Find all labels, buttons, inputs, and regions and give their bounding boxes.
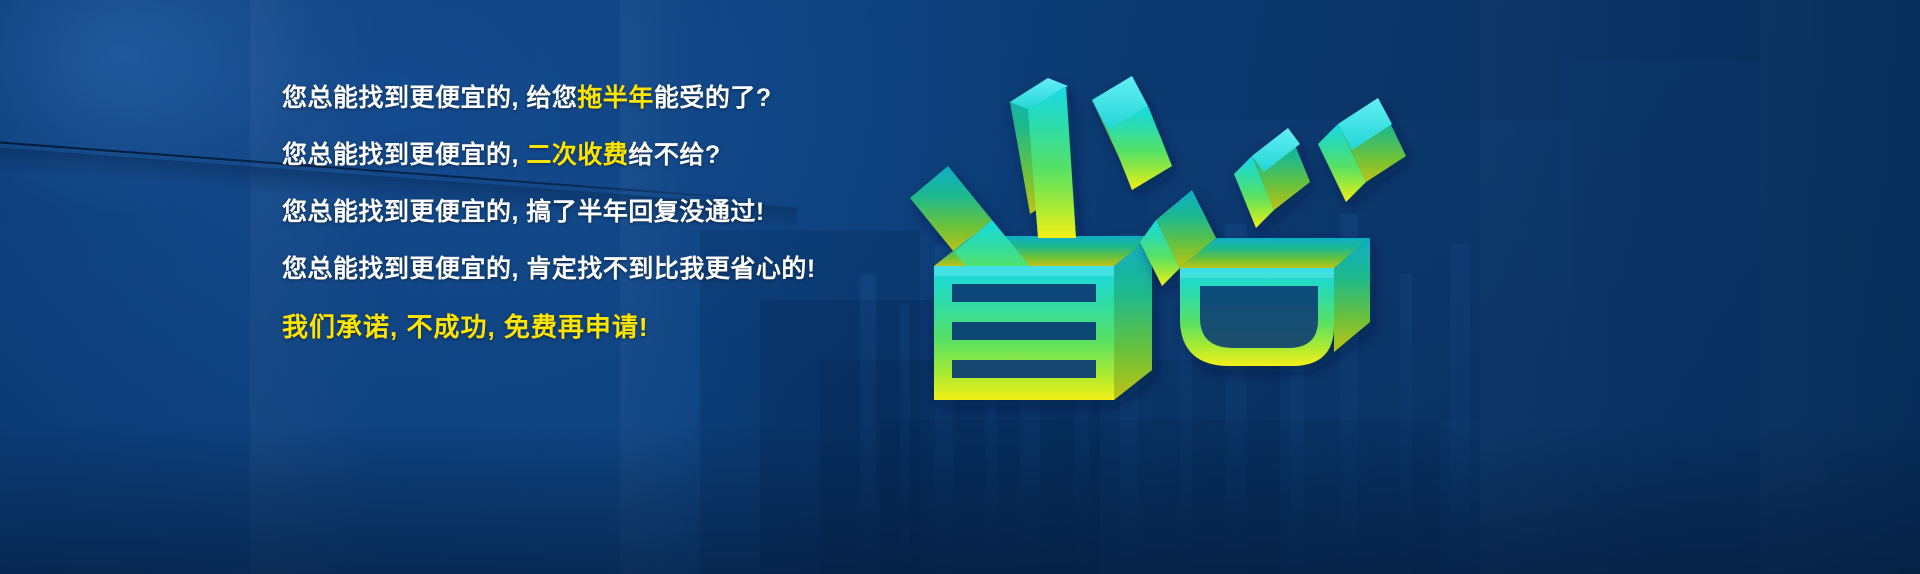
copy-segment: 给不给? (628, 141, 720, 169)
promo-banner: 您总能找到更便宜的, 给您拖半年能受的了? 您总能找到更便宜的, 二次收费给不给… (0, 0, 1920, 574)
copy-segment-highlight: 我们承诺, 不成功, 免费再申请! (282, 312, 649, 342)
copy-segment-highlight: 二次收费 (526, 141, 628, 169)
copy-segment: 您总能找到更便宜的, 搞了半年回复没通过! (282, 198, 765, 226)
copy-segment: 您总能找到更便宜的, 给您 (282, 84, 577, 112)
hero-char-sheng (910, 76, 1172, 400)
copy-line: 您总能找到更便宜的, 肯定找不到比我更省心的! (282, 257, 902, 282)
copy-line-promise: 我们承诺, 不成功, 免费再申请! (282, 314, 902, 340)
copy-segment: 您总能找到更便宜的, (282, 141, 526, 169)
copy-segment-highlight: 拖半年 (577, 84, 654, 112)
hero-char-xin (1140, 98, 1406, 366)
copy-line: 您总能找到更便宜的, 二次收费给不给? (282, 143, 902, 168)
floor-shadow (0, 424, 1920, 574)
copy-segment: 能受的了? (654, 84, 772, 112)
hero-word-3d (900, 70, 1420, 400)
copy-segment: 您总能找到更便宜的, 肯定找不到比我更省心的! (282, 255, 816, 283)
copy-line: 您总能找到更便宜的, 搞了半年回复没通过! (282, 200, 902, 225)
copy-line: 您总能找到更便宜的, 给您拖半年能受的了? (282, 86, 902, 111)
copy-block: 您总能找到更便宜的, 给您拖半年能受的了? 您总能找到更便宜的, 二次收费给不给… (282, 86, 902, 340)
